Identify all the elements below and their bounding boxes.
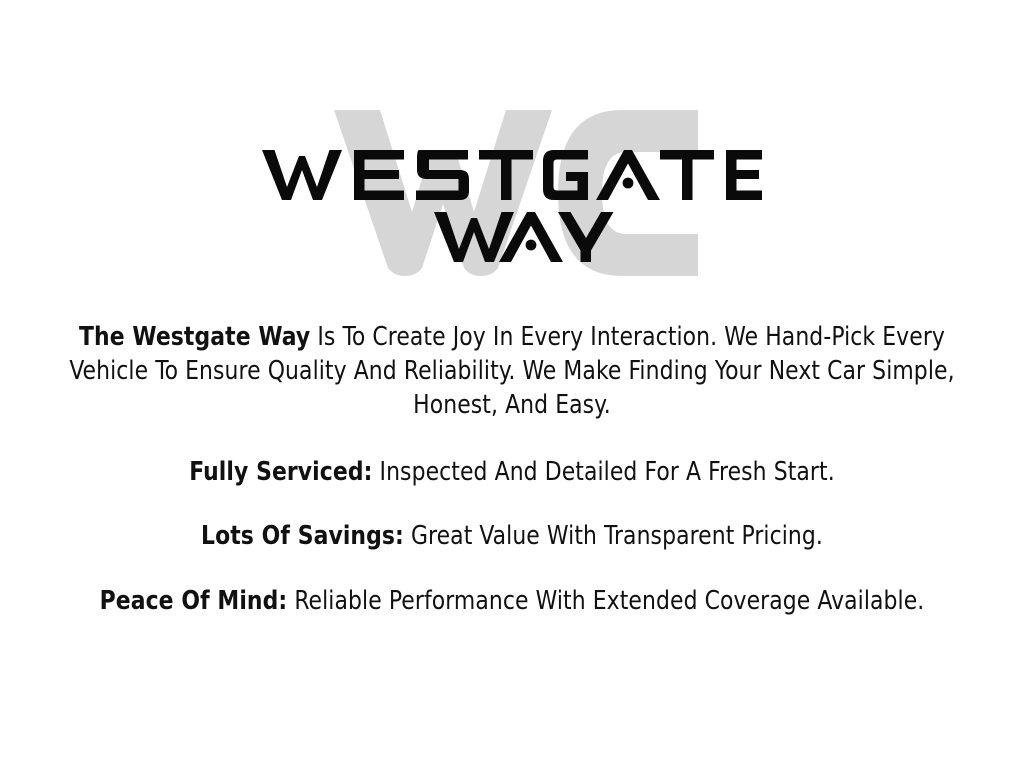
feature-peace-of-mind: Peace Of Mind: Reliable Performance With… — [23, 584, 1001, 618]
brand-statement-page: The Westgate Way Is To Create Joy In Eve… — [0, 0, 1024, 768]
feature-body: Great Value With Transparent Pricing. — [404, 521, 823, 551]
brand-copy: The Westgate Way Is To Create Joy In Eve… — [0, 320, 1024, 618]
spacer — [0, 422, 1024, 455]
feature-fully-serviced: Fully Serviced: Inspected And Detailed F… — [23, 455, 1001, 489]
wordmark — [0, 104, 1024, 284]
feature-body: Inspected And Detailed For A Fresh Start… — [372, 457, 834, 487]
intro-paragraph: The Westgate Way Is To Create Joy In Eve… — [23, 320, 1001, 422]
spacer — [0, 489, 1024, 519]
spacer — [0, 553, 1024, 584]
intro-lead: The Westgate Way — [79, 322, 310, 352]
feature-lead: Lots Of Savings: — [201, 521, 404, 551]
feature-lead: Fully Serviced: — [189, 457, 372, 487]
feature-body: Reliable Performance With Extended Cover… — [287, 586, 924, 616]
feature-lead: Peace Of Mind: — [100, 586, 288, 616]
logo-lockup — [0, 104, 1024, 284]
feature-lots-of-savings: Lots Of Savings: Great Value With Transp… — [23, 519, 1001, 553]
